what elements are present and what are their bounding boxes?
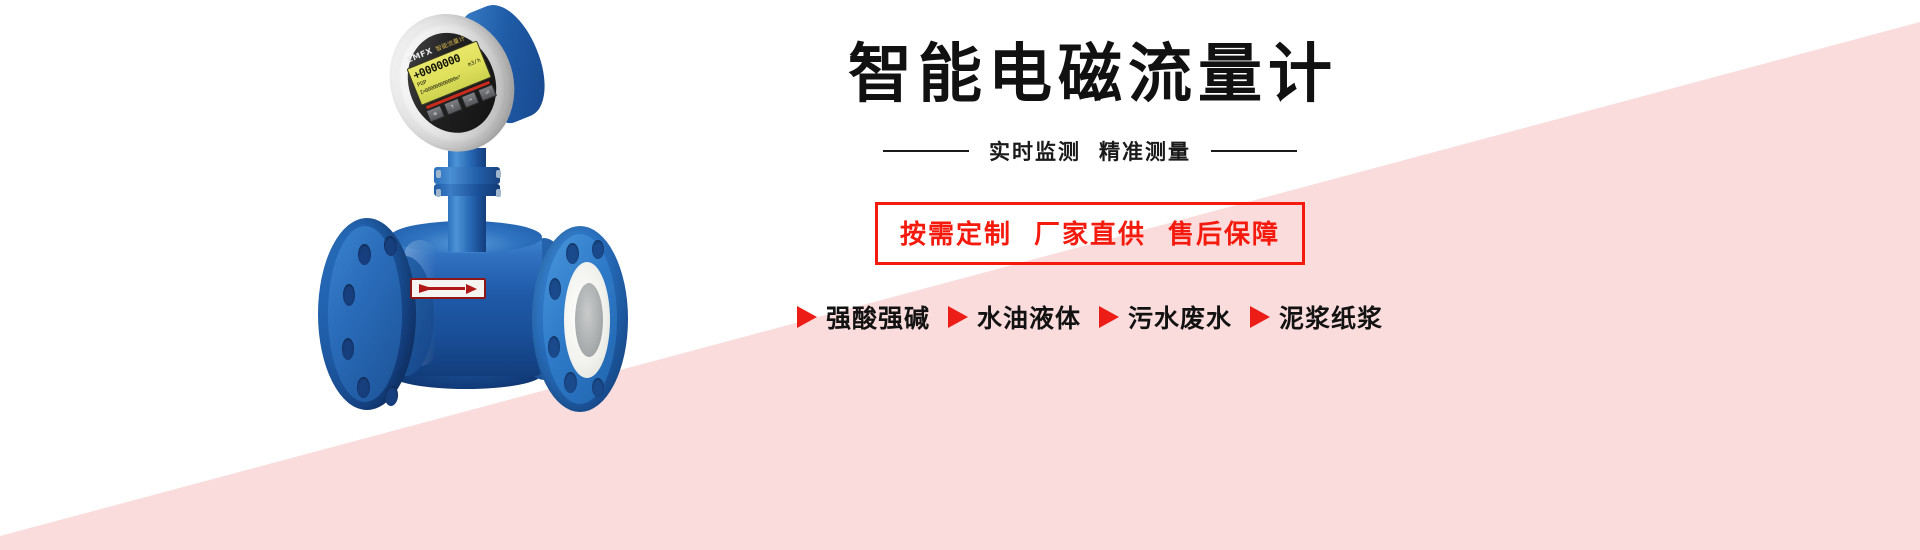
feature-label: 污水废水 xyxy=(1128,299,1232,335)
badge-item-2: 厂家直供 xyxy=(1034,220,1146,250)
meter-neck-collar-lower xyxy=(434,184,500,196)
flange-bolt-hole xyxy=(592,378,604,397)
subtitle-rule-right xyxy=(1211,150,1297,152)
feature-label: 水油液体 xyxy=(977,299,1081,335)
triangle-right-icon xyxy=(1250,306,1270,328)
feature-label: 强酸强碱 xyxy=(826,299,930,335)
collar-bolt xyxy=(496,170,501,178)
badge-item-1: 按需定制 xyxy=(900,220,1012,250)
feature-item: 污水废水 xyxy=(1099,299,1232,335)
collar-bolt xyxy=(496,189,501,197)
subtitle-left: 实时监测 xyxy=(989,140,1081,164)
flow-direction-label xyxy=(410,278,486,299)
flange-bolt-hole xyxy=(358,244,371,265)
feature-item: 泥浆纸浆 xyxy=(1250,299,1383,335)
badge-item-3: 售后保障 xyxy=(1168,220,1280,250)
flange-bolt-hole xyxy=(564,372,577,393)
flange-bolt-hole xyxy=(549,278,561,300)
meter-converter-head: EMFX 智能流量计 +0000000 POP m3/h Σ=000000000… xyxy=(364,0,577,184)
feature-label: 泥浆纸浆 xyxy=(1279,299,1383,335)
feature-item: 强酸强碱 xyxy=(797,299,930,335)
subtitle-row: 实时监测精准测量 xyxy=(883,136,1297,166)
guarantee-badge: 按需定制厂家直供售后保障 xyxy=(875,202,1305,265)
triangle-right-icon xyxy=(948,306,968,328)
subtitle-right: 精准测量 xyxy=(1099,140,1191,164)
collar-bolt xyxy=(436,189,441,197)
flange-bolt-hole xyxy=(343,284,355,306)
triangle-right-icon xyxy=(797,306,817,328)
flow-direction-arrow-icon xyxy=(419,284,477,293)
arrow-tail xyxy=(419,284,433,293)
promo-banner: EMFX 智能流量计 +0000000 POP m3/h Σ=000000000… xyxy=(0,0,1920,550)
subtitle-text: 实时监测精准测量 xyxy=(989,136,1191,166)
flange-bolt-hole xyxy=(357,377,370,398)
triangle-right-icon xyxy=(1099,306,1119,328)
feature-list: 强酸强碱 水油液体 污水废水 泥浆纸浆 xyxy=(797,299,1383,335)
flange-bolt-hole xyxy=(384,385,399,406)
meter-bore xyxy=(575,283,603,357)
flange-bolt-hole xyxy=(566,243,579,264)
flange-bolt-hole xyxy=(342,338,354,360)
feature-item: 水油液体 xyxy=(948,299,1081,335)
banner-content: 智能电磁流量计 实时监测精准测量 按需定制厂家直供售后保障 强酸强碱 水油液体 … xyxy=(640,0,1540,550)
guarantee-badge-text: 按需定制厂家直供售后保障 xyxy=(900,214,1280,251)
subtitle-rule-left xyxy=(883,150,969,152)
flange-bolt-hole xyxy=(592,240,604,259)
flange-bolt-hole xyxy=(548,336,560,358)
page-title: 智能电磁流量计 xyxy=(842,42,1338,110)
